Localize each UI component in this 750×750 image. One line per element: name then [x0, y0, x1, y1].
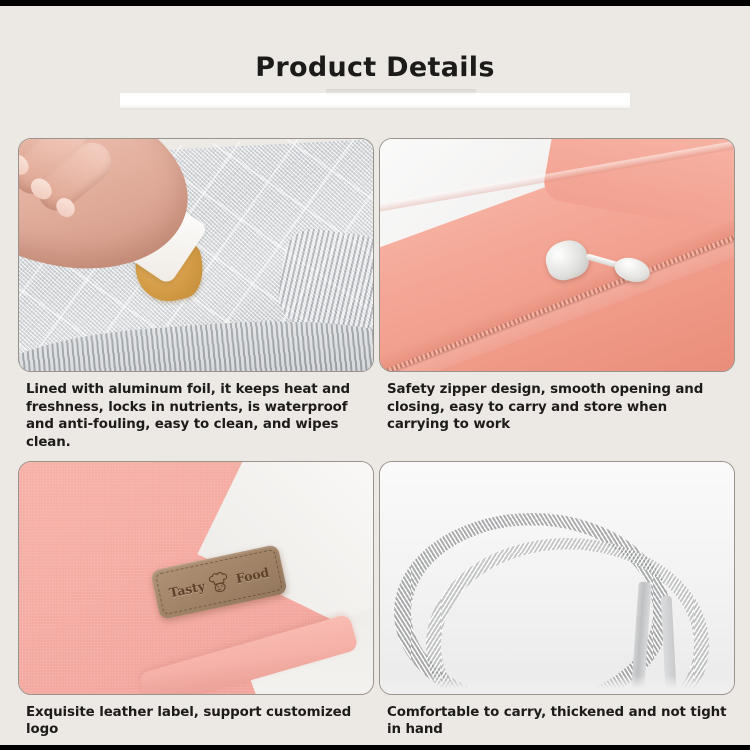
detail-cell-comfortable-handles: Comfortable to carry, thickened and not … [379, 461, 735, 750]
page-title: Product Details [0, 52, 750, 83]
detail-image-safety-zipper[interactable] [379, 138, 735, 372]
detail-caption-leather-label: Exquisite leather label, support customi… [18, 695, 374, 750]
detail-cell-safety-zipper: Safety zipper design, smooth opening and… [379, 138, 735, 452]
detail-image-comfortable-handles[interactable] [379, 461, 735, 695]
detail-caption-comfortable-handles: Comfortable to carry, thickened and not … [379, 695, 735, 750]
page-header: Product Details [0, 6, 750, 116]
chef-hat-face-icon [207, 569, 233, 594]
foil-illustration [19, 139, 373, 371]
title-underline-bar [120, 93, 630, 108]
detail-cell-leather-label: Tasty F [18, 461, 374, 750]
background-fade [380, 675, 734, 694]
brand-text-right: Food [234, 564, 270, 586]
details-row-1: Lined with aluminum foil, it keeps heat … [18, 138, 735, 452]
detail-image-aluminum-foil-lining[interactable] [18, 138, 374, 372]
brand-text-left: Tasty [167, 578, 206, 600]
details-grid: Lined with aluminum foil, it keeps heat … [18, 138, 735, 750]
detail-caption-aluminum-foil-lining: Lined with aluminum foil, it keeps heat … [18, 372, 374, 452]
zipper-illustration [380, 139, 734, 371]
leather-label-illustration: Tasty F [19, 462, 373, 694]
detail-image-leather-label[interactable]: Tasty F [18, 461, 374, 695]
details-row-2: Tasty F [18, 461, 735, 750]
detail-cell-aluminum-foil-lining: Lined with aluminum foil, it keeps heat … [18, 138, 374, 452]
foil-ribbed-edge-right [275, 225, 374, 336]
handles-illustration [380, 462, 734, 694]
bottom-black-bar [0, 745, 750, 750]
product-details-page: Product Details [0, 0, 750, 750]
detail-caption-safety-zipper: Safety zipper design, smooth opening and… [379, 372, 735, 439]
